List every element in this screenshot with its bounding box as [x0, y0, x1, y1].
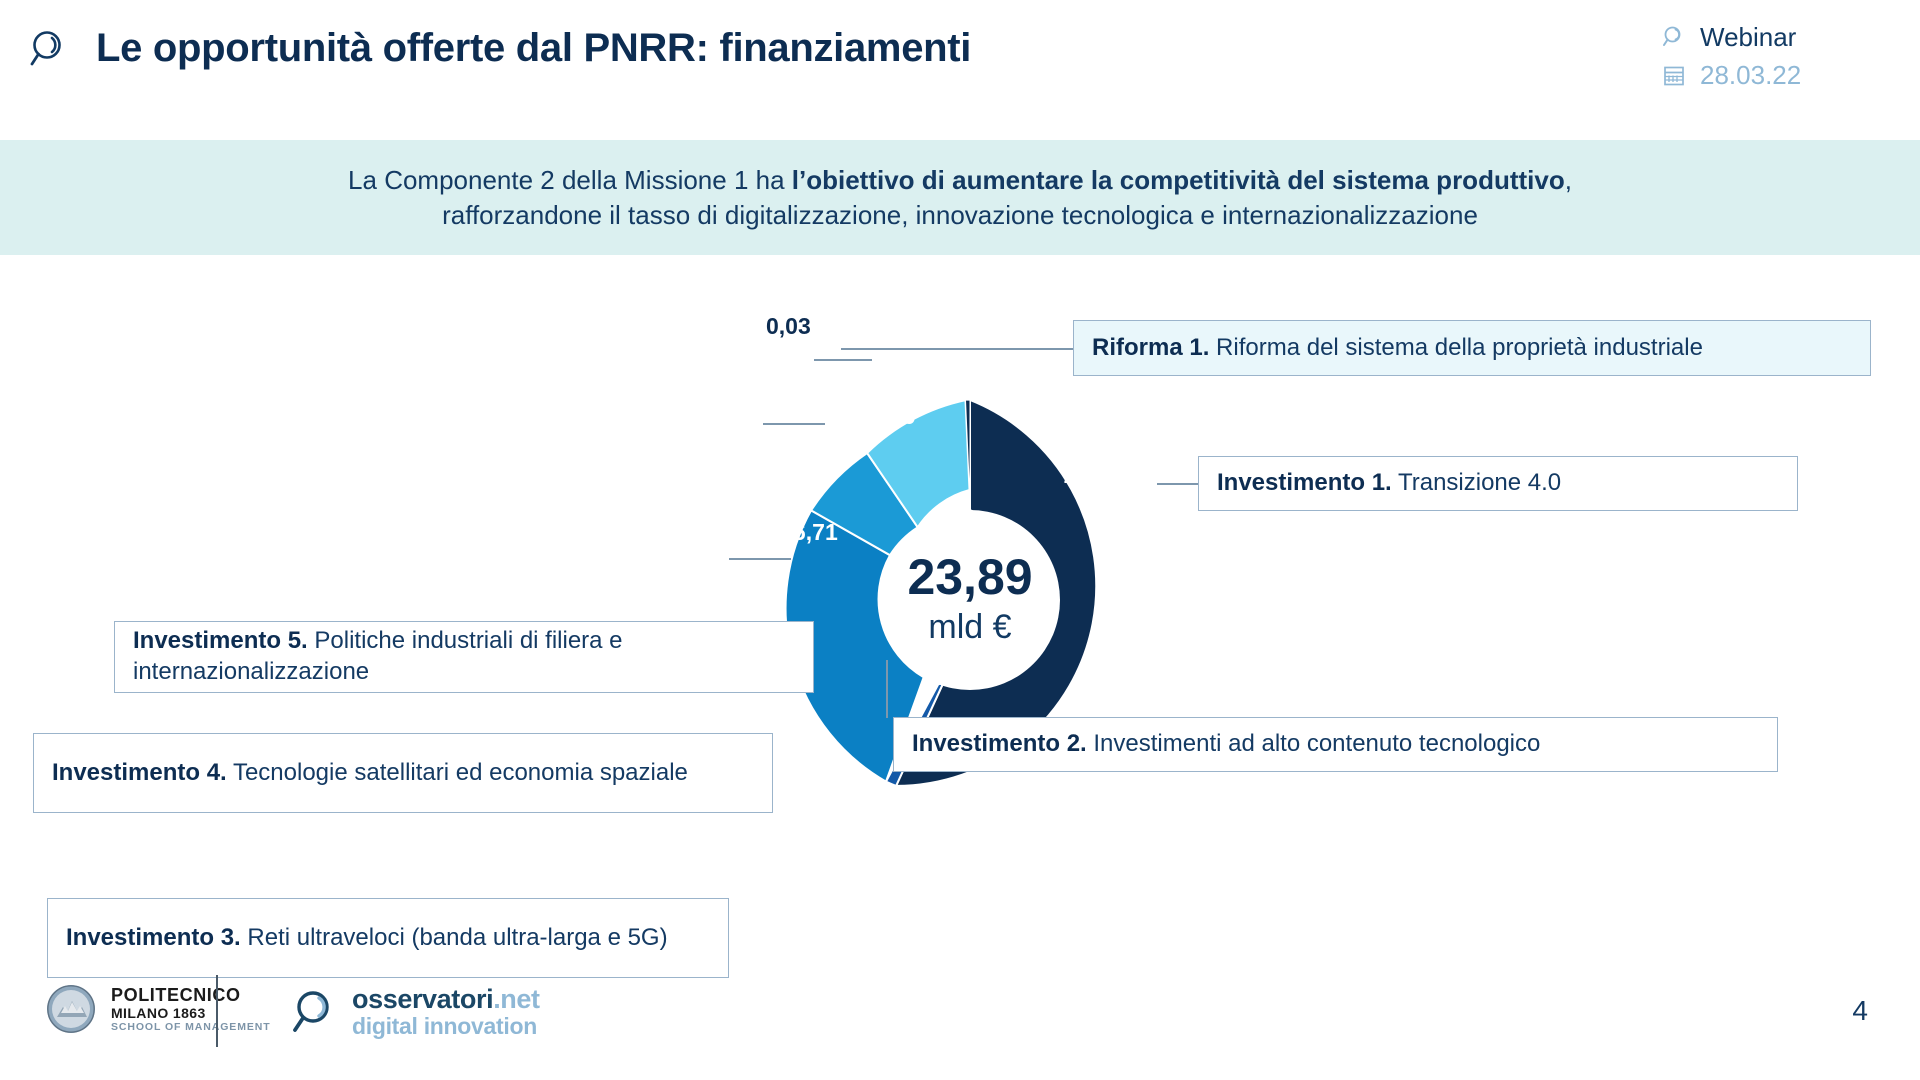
callout-investimento-4-text: Tecnologie satellitari ed economia spazi…: [227, 759, 688, 786]
politecnico-line-2: MILANO 1863: [111, 1005, 271, 1021]
webinar-label: Webinar: [1700, 22, 1796, 53]
callout-investimento-3-bold: Investimento 3.: [66, 924, 241, 951]
slice-value-investimento-1: 13,38: [1063, 462, 1121, 489]
slice-value-investimento-4: 1,49: [871, 403, 916, 430]
callout-investimento-3-text: Reti ultraveloci (banda ultra-larga e 5G…: [241, 924, 668, 951]
osservatori-name: osservatori.net: [352, 985, 540, 1014]
callout-investimento-5[interactable]: Investimento 5. Politiche industriali di…: [114, 621, 814, 693]
politecnico-line-1: POLITECNICO: [111, 985, 271, 1006]
banner-line1-suffix: ,: [1565, 165, 1572, 195]
callout-investimento-1-text: Transizione 4.0: [1392, 469, 1561, 496]
banner-line1-bold: l’obiettivo di aumentare la competitivit…: [792, 165, 1565, 195]
osservatori-magnifier-icon: [290, 987, 340, 1037]
slide-footer: POLITECNICO MILANO 1863 SCHOOL OF MANAGE…: [0, 965, 1920, 1080]
callout-investimento-2-text: Investimenti ad alto contenuto tecnologi…: [1087, 730, 1541, 757]
callout-investimento-2-bold: Investimento 2.: [912, 730, 1087, 757]
banner-text: La Componente 2 della Missione 1 ha l’ob…: [348, 163, 1572, 232]
callout-riforma-1[interactable]: Riforma 1. Riforma del sistema della pro…: [1073, 320, 1871, 376]
politecnico-line-3: SCHOOL OF MANAGEMENT: [111, 1021, 271, 1033]
osservatori-name-main: osservatori: [352, 984, 493, 1014]
footer-divider: [216, 975, 218, 1047]
callout-investimento-5-bold: Investimento 5.: [133, 627, 308, 654]
leader-investimento-2-vertical: [886, 660, 888, 718]
politecnico-logo: POLITECNICO MILANO 1863 SCHOOL OF MANAGE…: [45, 983, 271, 1035]
callout-riforma-1-text: Riforma del sistema della proprietà indu…: [1209, 334, 1703, 361]
date-label: 28.03.22: [1700, 60, 1801, 91]
osservatori-logo: osservatori.net digital innovation: [290, 985, 540, 1039]
subtitle-banner: La Componente 2 della Missione 1 ha l’ob…: [0, 140, 1920, 255]
callout-investimento-2[interactable]: Investimento 2. Investimenti ad alto con…: [893, 717, 1778, 772]
leader-riforma-1: [841, 348, 1073, 350]
politecnico-seal-icon: [45, 983, 97, 1035]
magnifier-icon: [1662, 25, 1686, 49]
page-number: 4: [1852, 995, 1868, 1027]
banner-line1-prefix: La Componente 2 della Missione 1 ha: [348, 165, 792, 195]
callout-investimento-1[interactable]: Investimento 1. Transizione 4.0: [1198, 456, 1798, 511]
politecnico-wordmark: POLITECNICO MILANO 1863 SCHOOL OF MANAGE…: [111, 985, 271, 1034]
donut-hole: [880, 510, 1060, 690]
page-title: Le opportunità offerte dal PNRR: finanzi…: [96, 26, 971, 71]
header-meta: Webinar 28.: [1662, 18, 1892, 94]
leader-investimento-5: [814, 359, 872, 361]
meta-row-date: 28.03.22: [1662, 56, 1892, 94]
calendar-icon: [1662, 63, 1686, 87]
callout-investimento-4[interactable]: Investimento 4. Tecnologie satellitari e…: [33, 733, 773, 813]
slice-value-investimento-5: 1,95: [925, 376, 970, 403]
leader-investimento-4: [763, 423, 825, 425]
slice-value-investimento-3: 6,71: [793, 519, 838, 546]
leader-investimento-3: [729, 558, 791, 560]
osservatori-name-tld: .net: [493, 984, 539, 1014]
slice-value-riforma-1: 0,03: [766, 313, 811, 340]
callout-riforma-1-bold: Riforma 1.: [1092, 334, 1209, 361]
callout-investimento-4-bold: Investimento 4.: [52, 759, 227, 786]
banner-line2: rafforzandone il tasso di digitalizzazio…: [442, 200, 1478, 230]
callout-investimento-1-bold: Investimento 1.: [1217, 469, 1392, 496]
meta-row-webinar: Webinar: [1662, 18, 1892, 56]
chart-area: 23,89 mld € 0,03 1,95 1,49 6,71 0,34 13,…: [0, 255, 1920, 965]
magnifier-logo-icon: [28, 28, 72, 72]
slide: Le opportunità offerte dal PNRR: finanzi…: [0, 0, 1920, 1080]
leader-investimento-1: [1157, 483, 1198, 485]
osservatori-tagline: digital innovation: [352, 1014, 540, 1039]
slide-header: Le opportunità offerte dal PNRR: finanzi…: [0, 0, 1920, 140]
osservatori-wordmark: osservatori.net digital innovation: [352, 985, 540, 1039]
